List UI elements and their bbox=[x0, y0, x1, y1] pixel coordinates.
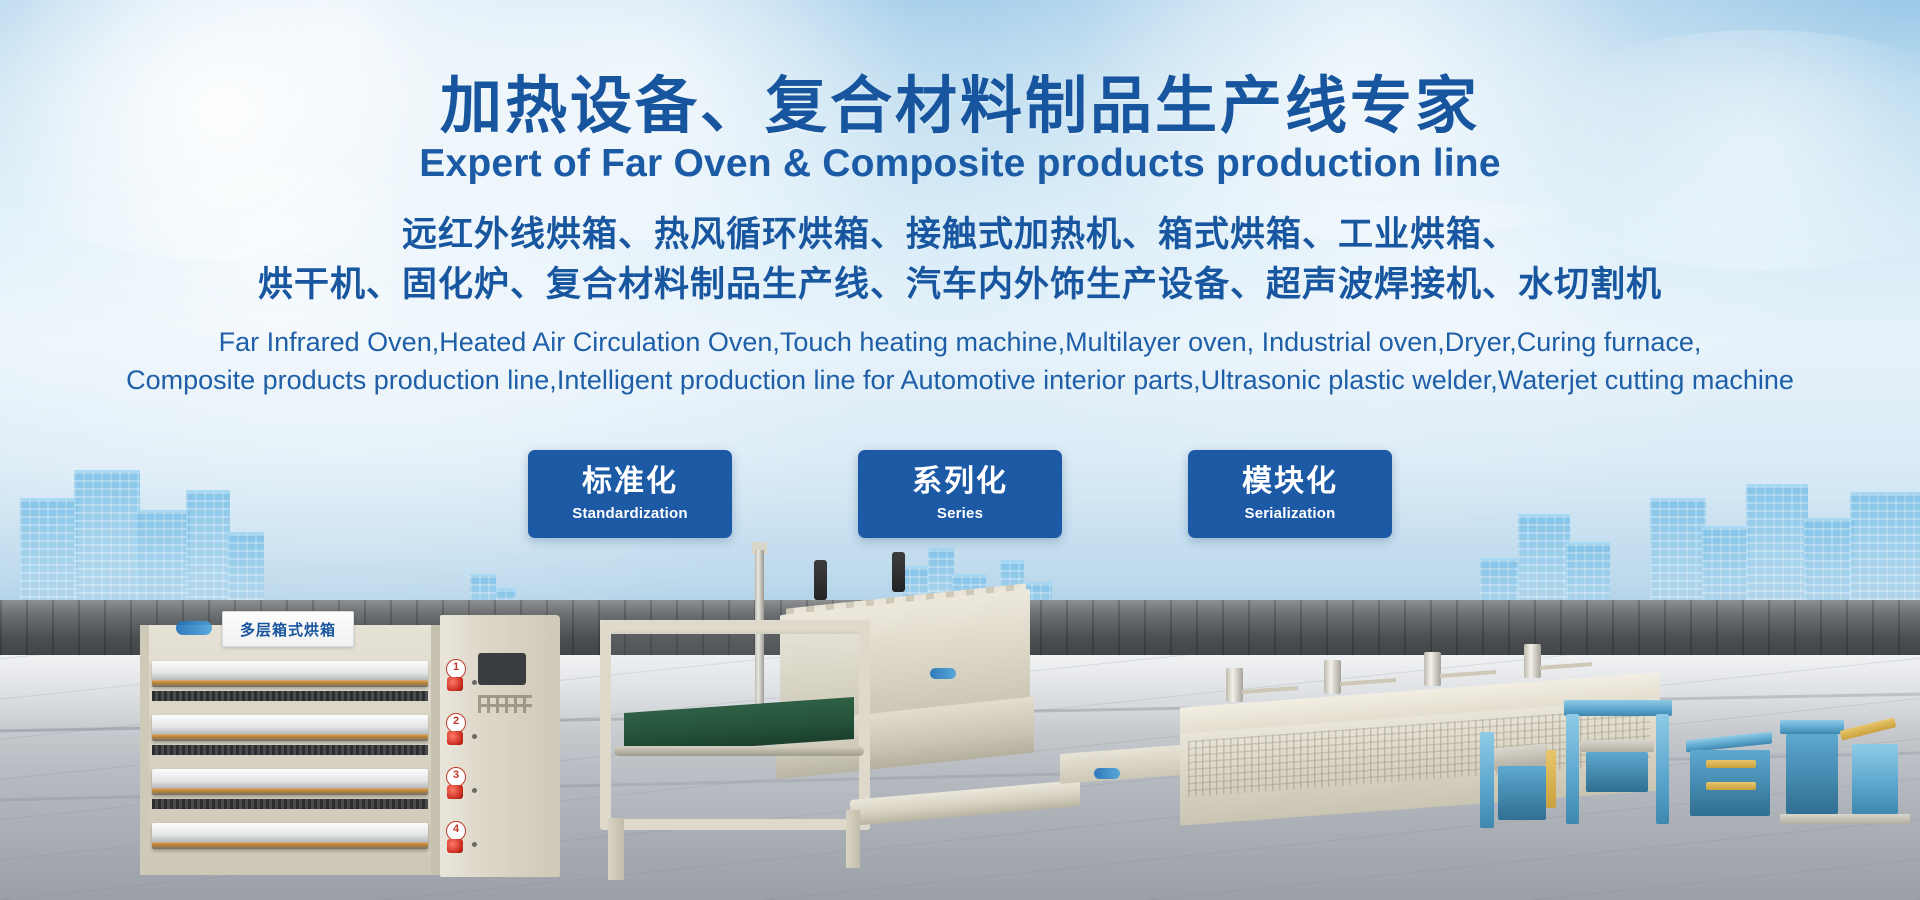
indicator-dot-icon bbox=[472, 788, 477, 793]
line-yellow-guard bbox=[1546, 750, 1556, 808]
machine-nameplate: 多层箱式烘箱 bbox=[222, 611, 354, 647]
page-title-cn: 加热设备、复合材料制品生产线专家 bbox=[0, 74, 1920, 138]
indicator-lamp-icon[interactable] bbox=[447, 839, 463, 853]
gantry-leg bbox=[1656, 714, 1669, 824]
machine-touch-heating-press bbox=[600, 560, 1120, 880]
indicator-dot-icon bbox=[472, 680, 477, 685]
yellow-marking bbox=[1706, 782, 1756, 790]
exhaust-stack bbox=[1424, 652, 1441, 686]
oven-shelf-gap bbox=[152, 799, 428, 809]
exhaust-stack bbox=[1324, 660, 1341, 694]
indicator-number: 1 bbox=[446, 659, 466, 679]
discharge-conveyor bbox=[850, 780, 1080, 826]
gantry-rail bbox=[1580, 740, 1654, 752]
indicator-lamp-icon[interactable] bbox=[447, 677, 463, 691]
headline-block: 加热设备、复合材料制品生产线专家 Expert of Far Oven & Co… bbox=[0, 0, 1920, 399]
badge-label-en: Series bbox=[937, 505, 983, 522]
robot-arm bbox=[1840, 717, 1897, 740]
yellow-marking bbox=[1706, 760, 1756, 768]
badge-series[interactable]: 系列化 Series bbox=[858, 450, 1062, 538]
indicator-group-1: 1 bbox=[446, 659, 486, 693]
page-title-en: Expert of Far Oven & Composite products … bbox=[0, 144, 1920, 185]
indicator-number: 3 bbox=[446, 767, 466, 787]
brand-logo-icon bbox=[930, 668, 956, 679]
press-pillar bbox=[892, 552, 905, 592]
product-list-cn-line-2: 烘干机、固化炉、复合材料制品生产线、汽车内外饰生产设备、超声波焊接机、水切割机 bbox=[0, 261, 1920, 311]
product-list-en-line-2: Composite products production line,Intel… bbox=[0, 361, 1920, 399]
indicator-group-3: 3 bbox=[446, 767, 486, 801]
oven-shelf bbox=[152, 661, 428, 687]
product-list-cn-line-1: 远红外线烘箱、热风循环烘箱、接触式加热机、箱式烘箱、工业烘箱、 bbox=[0, 211, 1920, 261]
feature-badges: 标准化 Standardization 系列化 Series 模块化 Seria… bbox=[0, 450, 1920, 538]
brand-logo-icon bbox=[176, 621, 212, 635]
oven-shelf bbox=[152, 715, 428, 741]
press-pillar bbox=[814, 560, 827, 600]
indicator-dot-icon bbox=[472, 842, 477, 847]
indicator-number: 4 bbox=[446, 821, 466, 841]
badge-label-cn: 标准化 bbox=[582, 467, 678, 497]
badge-label-en: Standardization bbox=[572, 505, 688, 522]
machine-nameplate-label: 多层箱式烘箱 bbox=[240, 619, 336, 640]
frame-leg bbox=[846, 810, 860, 868]
indicator-group-2: 2 bbox=[446, 713, 486, 747]
line-cabinet bbox=[1498, 766, 1546, 820]
vent-grille-icon bbox=[478, 695, 532, 713]
product-list-cn: 远红外线烘箱、热风循环烘箱、接触式加热机、箱式烘箱、工业烘箱、 烘干机、固化炉、… bbox=[0, 211, 1920, 310]
robot-housing bbox=[1852, 744, 1898, 814]
badge-label-cn: 系列化 bbox=[912, 467, 1008, 497]
badge-label-en: Serialization bbox=[1245, 505, 1336, 522]
belt-roller bbox=[614, 746, 864, 756]
frame-leg bbox=[608, 818, 624, 880]
indicator-dot-icon bbox=[472, 734, 477, 739]
oven-shelf-gap bbox=[152, 691, 428, 701]
line-column bbox=[1480, 732, 1494, 828]
exhaust-stack bbox=[1226, 668, 1243, 702]
machine-multilayer-oven: 多层箱式烘箱 1 2 3 4 bbox=[140, 615, 560, 880]
machine-automation-line bbox=[1480, 690, 1920, 890]
badge-standardization[interactable]: 标准化 Standardization bbox=[528, 450, 732, 538]
robot-column bbox=[1786, 734, 1838, 814]
gantry-carriage bbox=[1586, 752, 1648, 792]
oven-shelf bbox=[152, 823, 428, 849]
robot-base bbox=[1780, 720, 1844, 734]
product-list-en: Far Infrared Oven,Heated Air Circulation… bbox=[0, 323, 1920, 400]
indicator-lamp-icon[interactable] bbox=[447, 785, 463, 799]
gantry-leg bbox=[1566, 714, 1579, 824]
badge-label-cn: 模块化 bbox=[1242, 467, 1338, 497]
marketing-banner: 加热设备、复合材料制品生产线专家 Expert of Far Oven & Co… bbox=[0, 0, 1920, 900]
line-floor-rail bbox=[1780, 814, 1910, 824]
product-list-en-line-1: Far Infrared Oven,Heated Air Circulation… bbox=[0, 323, 1920, 361]
exhaust-stack bbox=[1524, 644, 1541, 678]
oven-shelf-gap bbox=[152, 745, 428, 755]
brand-logo-icon bbox=[1094, 768, 1120, 779]
badge-serialization[interactable]: 模块化 Serialization bbox=[1188, 450, 1392, 538]
oven-shelf bbox=[152, 769, 428, 795]
indicator-lamp-icon[interactable] bbox=[447, 731, 463, 745]
indicator-group-4: 4 bbox=[446, 821, 486, 855]
indicator-number: 2 bbox=[446, 713, 466, 733]
